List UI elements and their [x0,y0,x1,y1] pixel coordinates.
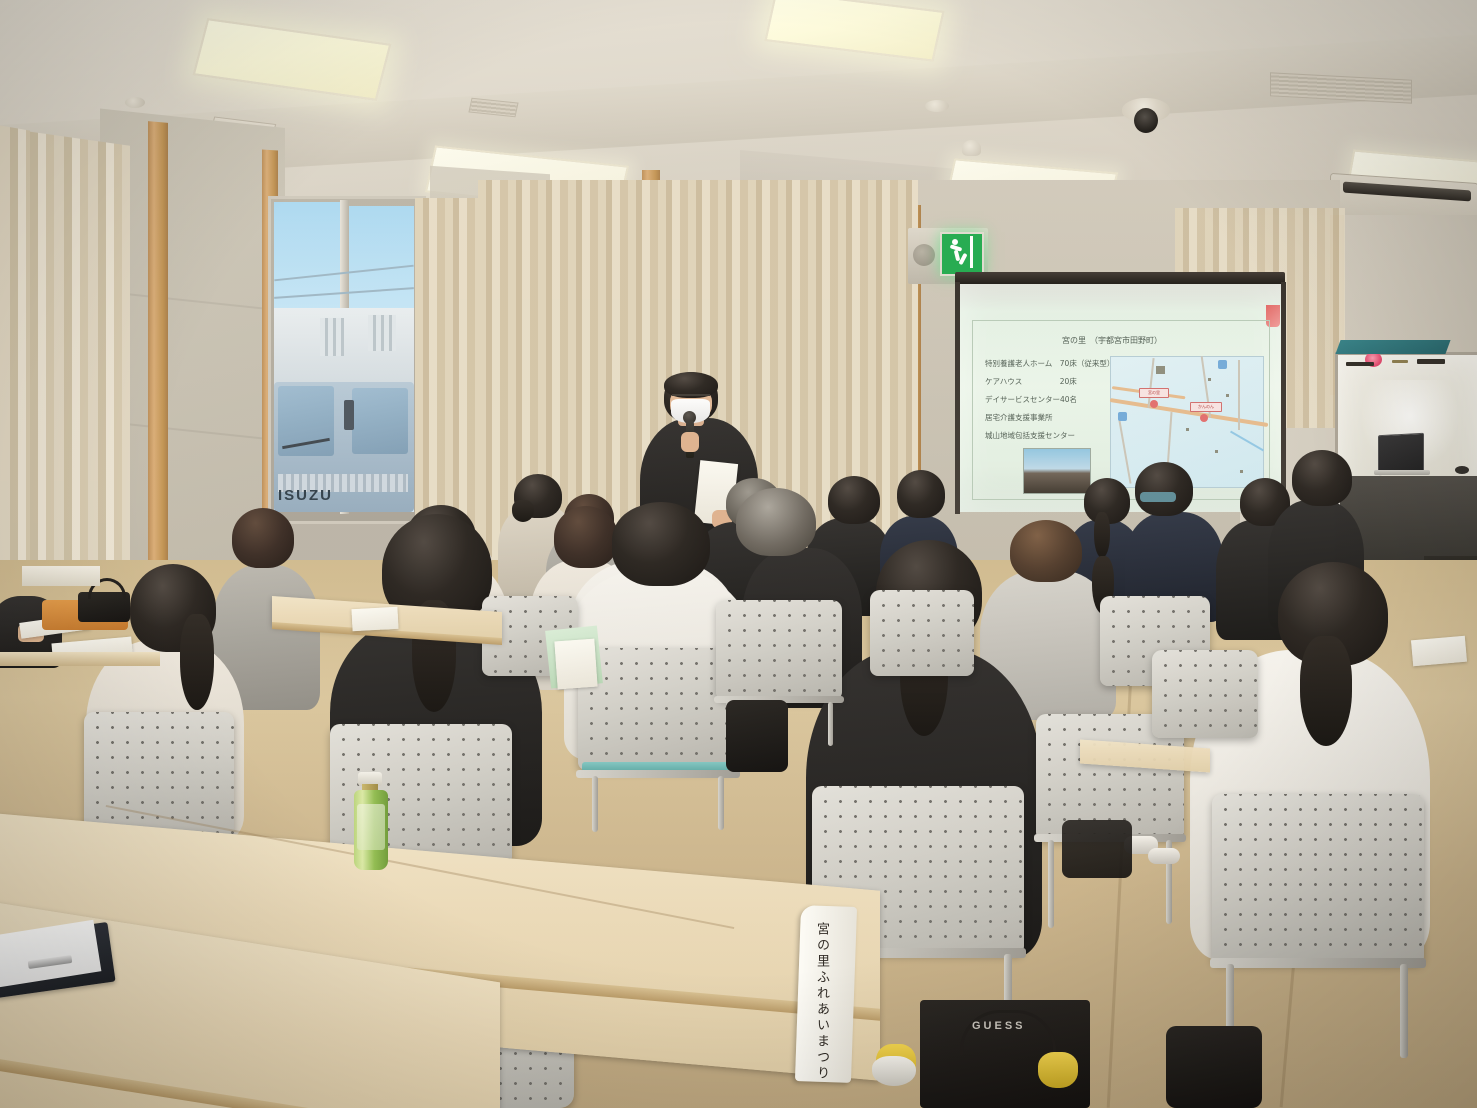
shoe [1148,848,1180,864]
seminar-room-photo: ISUZU 宮の里 （宇都宮市田野町） 特別養護老人ホーム 70床（従来型） ケ… [0,0,1477,1108]
chair-leg [828,702,833,746]
desk-mouse [1455,466,1469,474]
attendee-head [554,506,618,568]
tote-bag-logo: GUESS [972,1020,1026,1032]
projector-screen-left-edge [955,282,960,514]
event-banner-text: 宮の里ふれあいまつり [812,922,831,1082]
slide-line: 特別養護老人ホーム 70床（従来型） [985,358,1114,369]
attendee-ponytail [180,614,214,710]
presenter-hand [681,432,699,452]
chair-backrest [578,648,736,770]
map-building-icon [1156,366,1165,374]
slide-line: デイサービスセンター40名 [985,394,1077,405]
slide-title: 宮の里 （宇都宮市田野町） [1062,335,1162,346]
attendee-head [828,476,880,524]
map-label-kannon: かんのん [1190,402,1222,412]
chair-leg [1400,964,1408,1058]
truck-vent-panel [368,315,396,351]
chair-backrest [716,600,842,700]
wood-column [148,121,168,623]
handout-white [1411,636,1467,667]
truck-windshield [352,388,408,454]
chair-frame [1210,958,1426,968]
presenter-glasses-icon [672,394,710,396]
map-marker-dot [1150,400,1158,408]
teal-panel [1335,340,1450,354]
map-poi-dot [1215,450,1218,453]
projector-screen-right-edge [1281,282,1286,514]
attendee-head-gray [736,488,816,556]
truck-vent-panel [320,318,344,356]
attendee-cap-icon [1140,492,1176,502]
chair-backrest [1212,794,1424,964]
curtain-left-edge [0,125,30,630]
handout-white [351,607,398,631]
attendee-head [1010,520,1082,582]
handout-white [554,639,597,690]
slide-line: 城山地域包括支援センター [985,430,1075,441]
shoe [872,1056,916,1086]
attendee-head [1135,462,1193,516]
chair-backrest [870,590,974,676]
truck-brand-label: ISUZU [278,487,333,504]
exit-door-bar-icon [970,236,973,268]
bag-on-floor [1062,820,1132,878]
towel-on-rail [22,566,100,586]
shoe [1038,1052,1078,1088]
back-counter [0,652,160,666]
bag-on-floor [726,700,788,772]
map-poi-dot [1240,470,1243,473]
truck-mirror [344,400,354,430]
map-poi-dot [1186,428,1189,431]
slide-line: ケアハウス 20床 [985,376,1077,387]
camera-lens-icon [1134,108,1158,133]
curtain-window-right [415,198,485,558]
slide-line: 居宅介護支援事業所 [985,412,1053,423]
smoke-detector-icon [925,100,949,112]
attendee-ponytail [1094,512,1110,558]
whiteboard-marker [1392,360,1408,363]
chair-leg [1048,840,1054,928]
map-poi-dot [1226,394,1229,397]
chair-backrest [1152,650,1258,738]
laptop-base [1374,470,1430,475]
map-label-miyanosato: 宮の里 [1139,388,1169,398]
attendee-ponytail [1300,636,1352,746]
ceiling-speaker-icon [913,244,935,266]
chair-leg [592,776,598,832]
whiteboard-marker [1417,359,1445,364]
backpack [1166,1026,1262,1108]
attendee-head [232,508,294,568]
map-marker-dot [1200,414,1208,422]
laptop-screen [1378,433,1424,475]
chair-frame [576,770,740,778]
attendee-head [1292,450,1352,506]
map-route-shield-icon [1118,412,1127,421]
smoke-detector-icon [962,140,981,156]
whiteboard-marker [1346,362,1374,366]
slide-facility-photo [1023,448,1091,494]
map-poi-dot [1208,378,1211,381]
map-road [1238,360,1240,430]
attendee-head [897,470,945,518]
attendee-hair-bun [512,500,534,522]
bottle-label [357,804,385,850]
smoke-detector-icon [125,97,145,108]
attendee-head [612,502,710,586]
chair-leg [718,776,724,830]
map-route-shield-icon [1218,360,1227,369]
projector-screen-roller [955,272,1285,284]
